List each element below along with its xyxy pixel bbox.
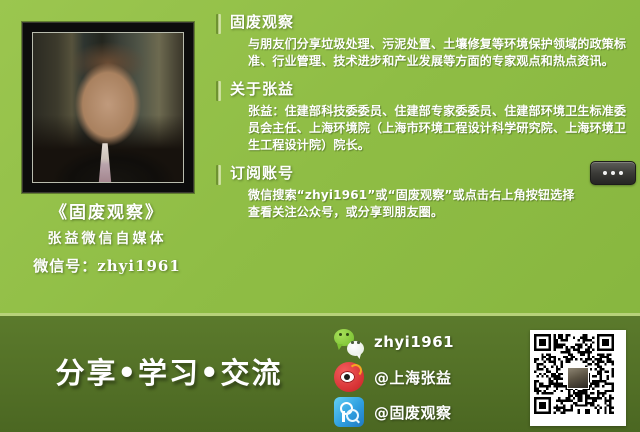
dot-icon (611, 171, 615, 175)
dot-icon (603, 171, 607, 175)
caption-subtitle: 张益微信自媒体 (0, 226, 214, 252)
wechat-public-account-card: 《固废观察》 张益微信自媒体 微信号：zhyi1961 固废观察 与朋友们分享垃… (0, 0, 640, 432)
slogan-text: 分享•学习•交流 (24, 350, 314, 392)
portrait-inner-border (32, 32, 184, 183)
qq-icon (334, 397, 364, 427)
accent-bar-icon (216, 81, 221, 101)
social-row-weibo[interactable]: @上海张益 (334, 361, 504, 393)
caption-title: 《固废观察》 (0, 200, 214, 226)
social-row-qq[interactable]: @固废观察 (334, 396, 504, 428)
social-accounts-list: zhyi1961 @上海张益 @固废观察 (334, 326, 504, 431)
more-options-button[interactable] (590, 161, 636, 185)
section-body: 张益：住建部科技委委员、住建部专家委委员、住建部环境卫生标准委员会主任、上海环境… (230, 103, 636, 154)
section-body: 与朋友们分享垃圾处理、污泥处置、土壤修复等环境保护领域的政策标准、行业管理、技术… (230, 36, 636, 70)
accent-bar-icon (216, 165, 221, 185)
section-about-column: 固废观察 与朋友们分享垃圾处理、污泥处置、土壤修复等环境保护领域的政策标准、行业… (216, 12, 636, 70)
section-subscribe: 订阅账号 微信搜索“zhyi1961”或“固废观察”或点击右上角按钮选择查看关注… (216, 163, 636, 221)
info-sections: 固废观察 与朋友们分享垃圾处理、污泥处置、土壤修复等环境保护领域的政策标准、行业… (216, 12, 636, 230)
weibo-icon (334, 362, 364, 392)
section-title: 固废观察 (230, 12, 636, 32)
section-title: 关于张益 (230, 79, 636, 99)
accent-bar-icon (216, 14, 221, 34)
social-label: zhyi1961 (374, 333, 454, 351)
wechat-icon (334, 327, 364, 357)
social-row-wechat[interactable]: zhyi1961 (334, 326, 504, 358)
wechat-qr-code[interactable] (530, 330, 626, 426)
bottom-bar: 分享•学习•交流 zhyi1961 @上海张益 @固废观察 (0, 313, 640, 432)
social-label: @上海张益 (374, 367, 452, 388)
portrait-photo (33, 33, 183, 182)
portrait-frame (22, 22, 194, 193)
caption-wechat-id: 微信号：zhyi1961 (0, 252, 214, 280)
qr-center-avatar (567, 367, 589, 389)
section-body: 微信搜索“zhyi1961”或“固废观察”或点击右上角按钮选择查看关注公众号，或… (230, 187, 636, 221)
section-about-author: 关于张益 张益：住建部科技委委员、住建部专家委委员、住建部环境卫生标准委员会主任… (216, 79, 636, 154)
social-label: @固废观察 (374, 402, 452, 423)
dot-icon (619, 171, 623, 175)
left-captions: 《固废观察》 张益微信自媒体 微信号：zhyi1961 (0, 200, 214, 280)
section-title: 订阅账号 (230, 163, 636, 183)
